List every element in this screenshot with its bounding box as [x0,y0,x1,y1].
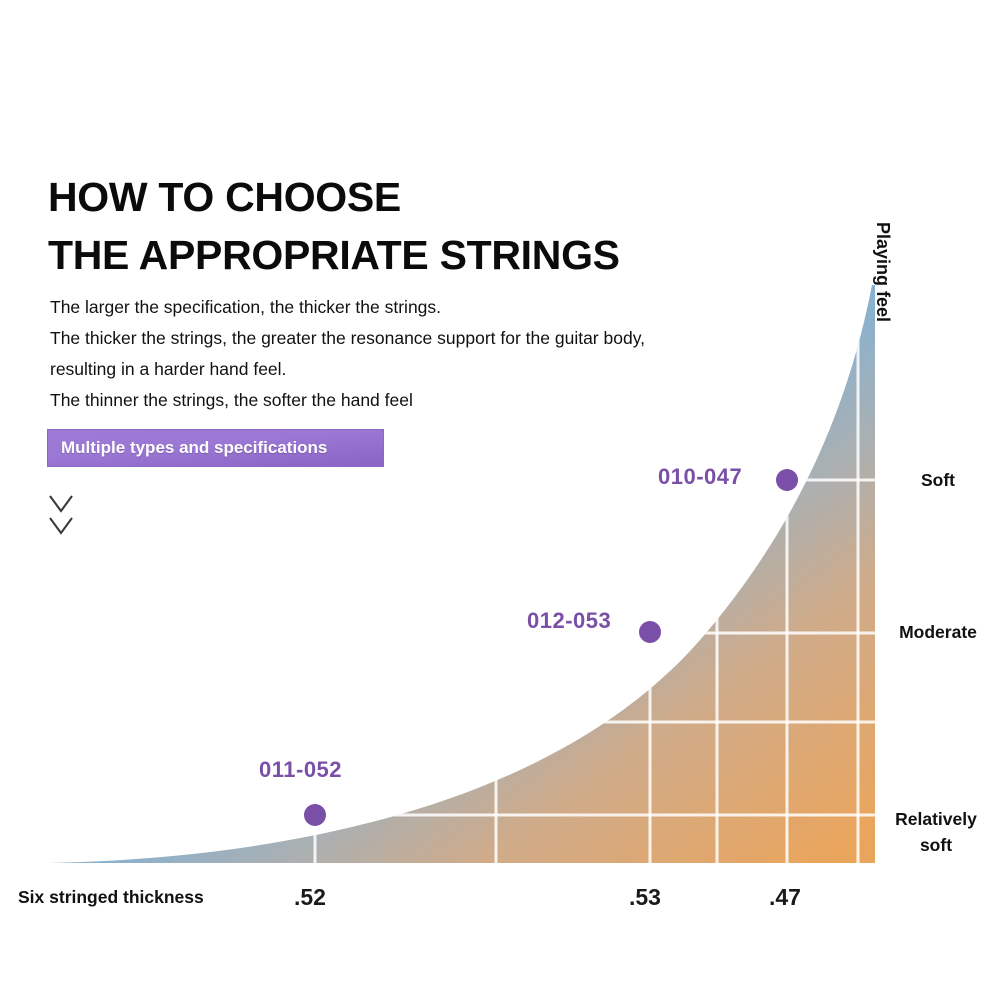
x-axis-title: Six stringed thickness [18,887,204,908]
description-text: The larger the specification, the thicke… [50,292,645,416]
multiple-types-badge-label: Multiple types and specifications [61,438,327,458]
y-axis-tick-soft: Soft [884,470,992,491]
page-title-line-2: THE APPROPRIATE STRINGS [48,226,620,284]
infographic-canvas: HOW TO CHOOSE THE APPROPRIATE STRINGS Th… [0,0,1002,1002]
y-axis-tick-moderate: Moderate [884,622,992,643]
page-title: HOW TO CHOOSE THE APPROPRIATE STRINGS [48,168,620,284]
double-chevron-down-icon [46,492,80,546]
description-line-2: The thicker the strings, the greater the… [50,323,645,354]
description-line-1: The larger the specification, the thicke… [50,292,645,323]
description-line-4: The thinner the strings, the softer the … [50,385,645,416]
page-title-line-1: HOW TO CHOOSE [48,174,401,220]
y-axis-tick-relatively-soft: Relatively soft [880,806,992,858]
data-label-010-047: 010-047 [658,464,742,490]
data-point-011-052[interactable] [304,804,326,826]
data-point-010-047[interactable] [776,469,798,491]
multiple-types-badge[interactable]: Multiple types and specifications [47,429,384,467]
data-point-012-053[interactable] [639,621,661,643]
data-label-011-052: 011-052 [259,757,342,783]
x-axis-tick-52: .52 [275,884,345,911]
y-axis-title: Playing feel [872,222,893,322]
y-axis-tick-relatively-soft-line-1: Relatively [895,809,977,829]
x-axis-tick-53: .53 [610,884,680,911]
y-axis-tick-relatively-soft-line-2: soft [880,832,992,858]
data-label-012-053: 012-053 [527,608,611,634]
description-line-3: resulting in a harder hand feel. [50,354,645,385]
playing-feel-area-chart [0,0,1002,1002]
x-axis-tick-47: .47 [750,884,820,911]
